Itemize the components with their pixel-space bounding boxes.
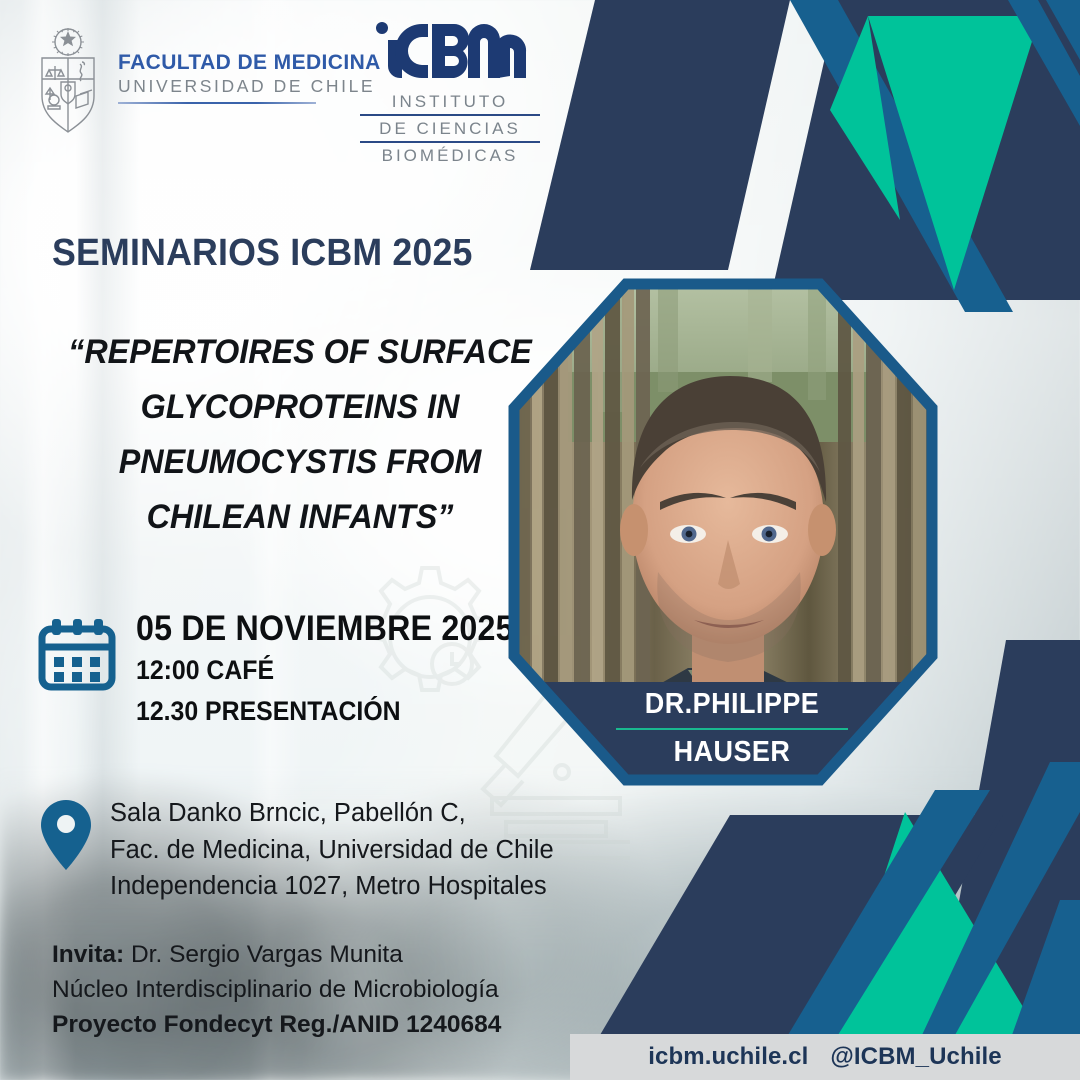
location-line: Sala Danko Brncic, Pabellón C, [110, 795, 554, 832]
event-time-coffee: 12:00 CAFÉ [136, 653, 514, 688]
footer-bar: icbm.uchile.cl @ICBM_Uchile [570, 1034, 1080, 1080]
location-line: Fac. de Medicina, Universidad de Chile [110, 832, 554, 869]
host-unit: Núcleo Interdisciplinario de Microbiolog… [52, 973, 501, 1008]
location-block: Sala Danko Brncic, Pabellón C, Fac. de M… [40, 795, 554, 905]
host-project: Proyecto Fondecyt Reg./ANID 1240684 [52, 1008, 501, 1043]
calendar-icon [36, 616, 118, 698]
speaker-name-line2: HAUSER [610, 736, 854, 769]
talk-title-line: “REPERTOIRES OF SURFACE [53, 325, 547, 380]
talk-title: “REPERTOIRES OF SURFACE GLYCOPROTEINS IN… [53, 325, 547, 545]
logo-header: FACULTAD DE MEDICINA UNIVERSIDAD DE CHIL… [0, 0, 600, 190]
host-label: Invita: [52, 941, 124, 968]
event-time-talk: 12.30 PRESENTACIÓN [136, 694, 514, 729]
talk-title-line: PNEUMOCYSTIS FROM [53, 435, 547, 490]
social-handle[interactable]: @ICBM_Uchile [830, 1043, 1001, 1071]
nameplate-divider [616, 728, 848, 730]
host-block: Invita: Dr. Sergio Vargas Munita Núcleo … [52, 938, 501, 1042]
schedule-block: 05 DE NOVIEMBRE 2025 12:00 CAFÉ 12.30 PR… [36, 610, 547, 729]
host-name-row: Invita: Dr. Sergio Vargas Munita [52, 938, 501, 973]
university-logo-rule [118, 102, 316, 104]
speaker-name-line1: DR.PHILIPPE [610, 688, 854, 721]
event-date: 05 DE NOVIEMBRE 2025 [136, 610, 514, 647]
institute-line3: BIOMÉDICAS [360, 145, 540, 167]
institute-line1: INSTITUTO [360, 91, 540, 113]
host-name: Dr. Sergio Vargas Munita [131, 941, 403, 968]
institute-rule-1 [360, 114, 540, 116]
uchile-crest-icon [30, 26, 106, 134]
talk-title-line: CHILEAN INFANTS” [53, 490, 547, 545]
map-pin-icon [40, 799, 92, 871]
website-link[interactable]: icbm.uchile.cl [648, 1043, 808, 1071]
institute-line2: DE CIENCIAS [360, 118, 540, 140]
institute-rule-2 [360, 141, 540, 143]
university-logo: FACULTAD DE MEDICINA UNIVERSIDAD DE CHIL… [30, 26, 381, 134]
institute-logo: INSTITUTO DE CIENCIAS BIOMÉDICAS [360, 20, 540, 168]
series-title: SEMINARIOS ICBM 2025 [52, 232, 473, 275]
university-name-line2: UNIVERSIDAD DE CHILE [118, 76, 381, 97]
university-name-line1: FACULTAD DE MEDICINA [118, 52, 381, 74]
talk-title-line: GLYCOPROTEINS IN [53, 380, 547, 435]
seminar-poster: FACULTAD DE MEDICINA UNIVERSIDAD DE CHIL… [0, 0, 1080, 1080]
icbm-wordmark-icon [370, 20, 530, 82]
speaker-nameplate: DR.PHILIPPE HAUSER [601, 688, 863, 769]
location-line: Independencia 1027, Metro Hospitales [110, 868, 554, 905]
